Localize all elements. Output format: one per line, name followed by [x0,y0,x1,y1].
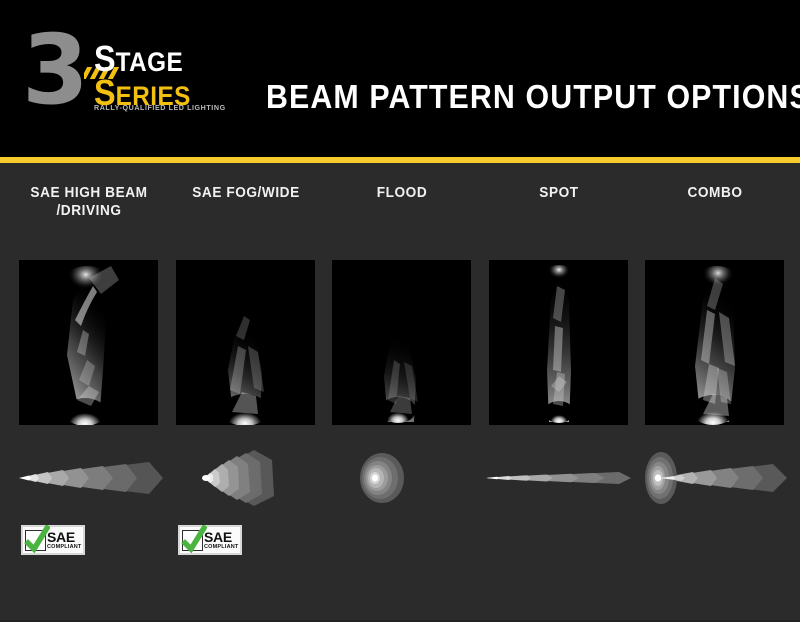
logo-tagline: RALLY-QUALIFIED LED LIGHTING [94,103,226,112]
column-combo: COMBO [645,163,785,622]
header-bar: 3 STAGE SERIES RALLY-QUALIFIED LED LIGHT… [0,0,800,157]
logo-wordmark: STAGE SERIES [94,42,249,109]
beam-photo-spot [489,260,628,425]
beam-photo-sae-fog-wide [176,260,315,425]
column-sae-fog-wide: SAE FOG/WIDE [176,163,316,622]
sae-badge-title: SAE [47,530,82,544]
sae-badge-subtitle: COMPLIANT [204,545,239,551]
column-flood: FLOOD [332,163,472,622]
beam-photo-sae-high-beam [19,260,158,425]
column-sae-high-beam: SAE HIGH BEAM/DRIVING [19,163,159,622]
beam-pattern-output-options-page: 3 STAGE SERIES RALLY-QUALIFIED LED LIGHT… [0,0,800,622]
logo-numeral-3: 3 [22,22,85,118]
column-spot: SPOT [489,163,629,622]
column-label-flood: FLOOD [321,185,483,203]
checkmark-icon [182,530,203,551]
beam-diagram-sae-high-beam [7,445,172,511]
sae-badge-title: SAE [204,530,239,544]
column-label-sae-fog-wide: SAE FOG/WIDE [165,185,327,203]
logo-stage-rest: TAGE [116,47,184,77]
beam-photo-combo [645,260,784,425]
logo-word-stage: STAGE [94,42,234,75]
column-label-line1: SAE HIGH BEAM [30,185,147,201]
column-label-combo: COMBO [634,185,796,203]
beam-pattern-grid: SAE HIGH BEAM/DRIVING [0,163,800,622]
column-label-spot: SPOT [478,185,640,203]
beam-photo-flood [332,260,471,425]
beam-diagram-sae-fog-wide [164,445,329,511]
page-title: BEAM PATTERN OUTPUT OPTIONS [266,78,800,116]
column-label-line2: /DRIVING [56,203,121,219]
beam-diagram-combo [633,445,798,511]
sae-badge-subtitle: COMPLIANT [47,545,82,551]
checkmark-icon [25,530,46,551]
stage-series-logo: 3 STAGE SERIES RALLY-QUALIFIED LED LIGHT… [22,28,247,128]
beam-diagram-spot [477,445,642,511]
column-label-sae-high-beam: SAE HIGH BEAM/DRIVING [8,185,170,220]
sae-compliant-badge: SAE COMPLIANT [178,525,242,555]
beam-diagram-flood [320,445,485,511]
sae-compliant-badge: SAE COMPLIANT [21,525,85,555]
